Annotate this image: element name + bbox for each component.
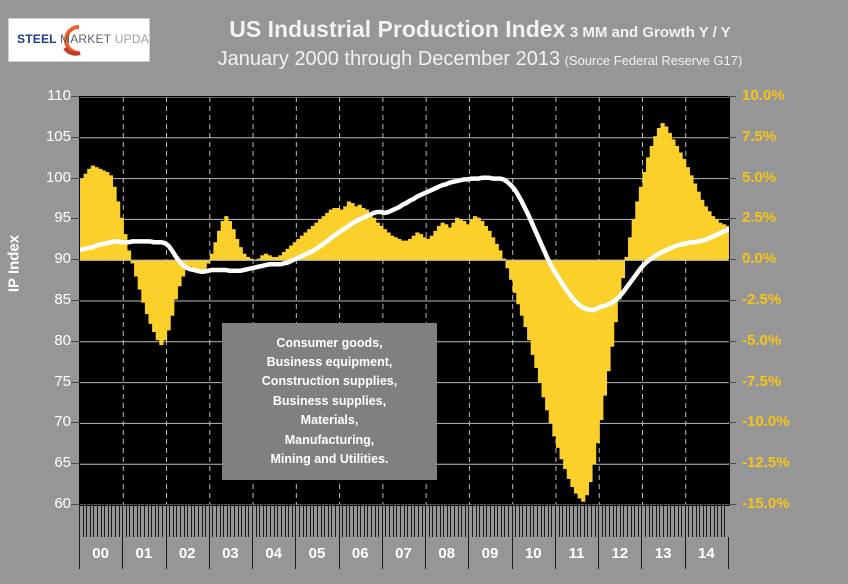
x-axis-month-tick	[649, 504, 650, 537]
bar	[534, 260, 538, 368]
x-axis-month-tick	[133, 504, 134, 537]
x-axis-month-tick	[638, 504, 639, 537]
bar	[405, 241, 409, 261]
x-axis-month-tick	[162, 504, 163, 537]
bar	[516, 260, 520, 304]
x-axis-month-tick	[227, 504, 228, 537]
bar	[340, 210, 344, 261]
bar	[697, 192, 701, 261]
y-axis-right-tick-label: -10.0%	[742, 414, 812, 429]
x-axis-month-tick	[681, 504, 682, 537]
x-axis-month-tick	[245, 504, 246, 537]
bar	[448, 228, 452, 261]
bar	[343, 206, 347, 260]
bar	[462, 221, 466, 260]
y-axis-right-tick-mark	[728, 422, 736, 423]
bar	[668, 133, 672, 260]
x-axis-month-tick	[486, 504, 487, 537]
bar	[170, 260, 174, 315]
y-axis-left-tick-label: 95	[31, 210, 71, 225]
x-axis-month-tick	[522, 504, 523, 537]
x-axis-month-tick	[674, 504, 675, 537]
x-axis-month-tick	[497, 504, 498, 537]
x-axis-month-tick	[580, 504, 581, 537]
x-axis-month-tick	[353, 504, 354, 537]
bar	[455, 218, 459, 260]
x-axis-month-tick	[443, 504, 444, 537]
bar	[379, 226, 383, 260]
x-axis-month-tick	[602, 504, 603, 537]
bar	[102, 170, 106, 260]
bar	[120, 218, 124, 260]
x-axis-year-separator	[728, 537, 729, 569]
bar	[693, 183, 697, 260]
x-axis-month-tick	[375, 504, 376, 537]
x-axis-month-tick	[97, 504, 98, 537]
bar	[469, 219, 473, 260]
y-axis-left-tick-mark	[71, 300, 79, 301]
x-axis-year-label: 10	[512, 546, 555, 561]
x-axis-month-tick	[432, 504, 433, 537]
bar	[322, 216, 326, 260]
bar	[213, 242, 217, 260]
bar	[412, 236, 416, 260]
bar	[426, 239, 430, 260]
bar	[689, 175, 693, 260]
x-axis-month-tick	[479, 504, 480, 537]
x-axis-month-tick	[328, 504, 329, 537]
x-axis-month-tick	[151, 504, 152, 537]
x-axis-month-tick	[508, 504, 509, 537]
x-axis-year-label: 03	[209, 546, 252, 561]
x-axis-month-tick	[104, 504, 105, 537]
y-axis-right-tick-label: 5.0%	[742, 170, 812, 185]
bar	[642, 172, 646, 260]
bar	[520, 260, 524, 315]
bar	[491, 237, 495, 260]
annotation-box: Consumer goods,Business equipment,Constr…	[222, 323, 437, 480]
x-axis-month-tick	[202, 504, 203, 537]
x-axis-month-tick	[266, 504, 267, 537]
x-axis-month-tick	[476, 504, 477, 537]
x-axis-month-tick	[248, 504, 249, 537]
x-axis-year-label: 02	[166, 546, 209, 561]
y-axis-right-tick-label: -7.5%	[742, 374, 812, 389]
x-axis-month-tick	[468, 504, 469, 537]
x-axis-month-tick	[706, 504, 707, 537]
x-axis-month-tick	[349, 504, 350, 537]
x-axis-month-tick	[252, 504, 253, 537]
x-axis-month-tick	[129, 504, 130, 537]
x-axis-month-tick	[526, 504, 527, 537]
bar	[646, 157, 650, 260]
x-axis-month-tick	[483, 504, 484, 537]
x-axis-month-tick	[137, 504, 138, 537]
y-axis-left-tick-mark	[71, 504, 79, 505]
y-axis-right-tick-label: -15.0%	[742, 496, 812, 511]
bar	[523, 260, 527, 327]
bar	[350, 203, 354, 260]
x-axis-month-tick	[688, 504, 689, 537]
bar	[267, 255, 271, 260]
x-axis-month-tick	[461, 504, 462, 537]
x-axis-month-tick	[584, 504, 585, 537]
logo-word-update: UPDATE	[115, 32, 150, 46]
x-axis-month-tick	[573, 504, 574, 537]
bar	[235, 239, 239, 260]
y-axis-left-tick-label: 60	[31, 496, 71, 511]
x-axis-month-tick	[641, 504, 642, 537]
x-axis-month-tick	[378, 504, 379, 537]
y-axis-right-tick-label: 7.5%	[742, 129, 812, 144]
x-axis-month-tick	[458, 504, 459, 537]
x-axis-month-tick	[587, 504, 588, 537]
x-axis-month-tick	[86, 504, 87, 537]
x-axis-month-tick	[212, 504, 213, 537]
x-axis-month-tick	[367, 504, 368, 537]
x-axis-year-label: 00	[79, 546, 122, 561]
x-axis-month-tick	[422, 504, 423, 537]
bar	[487, 231, 491, 260]
x-axis-month-tick	[609, 504, 610, 537]
x-axis-month-tick	[623, 504, 624, 537]
x-axis-month-tick	[685, 504, 686, 537]
bar	[477, 218, 481, 260]
bar	[210, 254, 214, 261]
x-axis-month-tick	[83, 504, 84, 537]
y-axis-right-tick-mark	[728, 259, 736, 260]
y-axis-left-tick-label: 70	[31, 414, 71, 429]
x-axis-month-tick	[194, 504, 195, 537]
x-axis-month-tick	[306, 504, 307, 537]
x-axis-month-tick	[216, 504, 217, 537]
x-axis-month-tick	[140, 504, 141, 537]
x-axis-month-tick	[411, 504, 412, 537]
bar	[549, 260, 553, 423]
x-axis-month-tick	[404, 504, 405, 537]
y-axis-left-title: IP Index	[6, 224, 23, 304]
y-axis-left-tick-mark	[71, 341, 79, 342]
x-axis-month-tick	[717, 504, 718, 537]
y-axis-left-tick-mark	[71, 463, 79, 464]
x-axis-month-tick	[703, 504, 704, 537]
steel-market-update-logo: STEEL MARKET UPDATE	[8, 18, 150, 62]
x-axis-month-tick	[205, 504, 206, 537]
bar	[686, 167, 690, 260]
y-axis-right-tick-mark	[728, 463, 736, 464]
x-axis-month-tick	[126, 504, 127, 537]
bar	[372, 218, 376, 260]
y-axis-right-tick-label: 10.0%	[742, 88, 812, 103]
bar	[578, 260, 582, 498]
bar	[484, 226, 488, 260]
x-axis-month-tick	[551, 504, 552, 537]
x-axis-month-tick	[101, 504, 102, 537]
bar	[141, 260, 145, 302]
x-axis-month-tick	[277, 504, 278, 537]
bar	[109, 175, 113, 260]
bar	[239, 247, 243, 260]
x-axis-month-tick	[454, 504, 455, 537]
bar	[390, 236, 394, 260]
bar	[545, 260, 549, 410]
bar	[134, 260, 138, 276]
y-axis-right-tick-mark	[728, 504, 736, 505]
x-axis-month-tick	[270, 504, 271, 537]
x-axis-month-tick	[238, 504, 239, 537]
y-axis-left-tick-label: 75	[31, 374, 71, 389]
x-axis-month-tick	[169, 504, 170, 537]
bar	[660, 123, 664, 260]
y-axis-left-tick-label: 90	[31, 251, 71, 266]
x-axis-month-tick	[364, 504, 365, 537]
x-axis-month-tick	[627, 504, 628, 537]
bar	[606, 260, 610, 371]
bar	[495, 244, 499, 260]
y-axis-right-tick-mark	[728, 300, 736, 301]
bar	[498, 250, 502, 260]
x-axis-month-tick	[393, 504, 394, 537]
x-axis-month-tick	[230, 504, 231, 537]
annotation-line: Mining and Utilities.	[270, 450, 388, 469]
x-axis-month-tick	[670, 504, 671, 537]
bar	[260, 255, 264, 260]
x-axis-year-label: 01	[122, 546, 165, 561]
annotation-line: Business supplies,	[273, 392, 386, 411]
x-axis-year-label: 11	[555, 546, 598, 561]
bar	[574, 260, 578, 493]
x-axis-month-tick	[714, 504, 715, 537]
chart-subtitle-source: (Source Federal Reserve G17)	[565, 53, 743, 68]
x-axis-month-tick	[234, 504, 235, 537]
x-axis-month-tick	[652, 504, 653, 537]
x-axis-month-tick	[158, 504, 159, 537]
bar	[700, 200, 704, 260]
x-axis-month-tick	[299, 504, 300, 537]
bar	[286, 249, 290, 260]
y-axis-right-tick-mark	[728, 96, 736, 97]
x-axis-month-tick	[721, 504, 722, 537]
x-axis-month-tick	[360, 504, 361, 537]
x-axis-month-tick	[310, 504, 311, 537]
bar	[376, 223, 380, 261]
bar	[278, 255, 282, 260]
bar	[282, 252, 286, 260]
x-axis-year-label: 08	[425, 546, 468, 561]
annotation-line: Materials,	[301, 411, 359, 430]
chart-subtitle-range: January 2000 through December 2013	[218, 48, 560, 70]
bar	[152, 260, 156, 332]
bar	[513, 260, 517, 293]
x-axis-month-tick	[490, 504, 491, 537]
annotation-line: Business equipment,	[267, 353, 393, 372]
bar	[466, 224, 470, 260]
x-axis-month-tick	[342, 504, 343, 537]
bar	[386, 232, 390, 260]
bar	[127, 250, 131, 260]
x-axis-month-tick	[447, 504, 448, 537]
x-axis-month-tick	[389, 504, 390, 537]
x-axis-month-tick	[144, 504, 145, 537]
x-axis-month-tick	[155, 504, 156, 537]
x-axis-month-tick	[414, 504, 415, 537]
annotation-line: Manufacturing,	[285, 431, 375, 450]
x-axis-month-tick	[166, 504, 167, 537]
bar	[531, 260, 535, 355]
x-axis-month-tick	[616, 504, 617, 537]
x-axis-month-tick	[187, 504, 188, 537]
x-axis-month-tick	[357, 504, 358, 537]
bar	[318, 219, 322, 260]
x-axis-month-tick	[274, 504, 275, 537]
x-axis-month-tick	[667, 504, 668, 537]
x-axis-month-tick	[303, 504, 304, 537]
bar	[145, 260, 149, 314]
x-axis-month-tick	[548, 504, 549, 537]
bar	[419, 234, 423, 260]
bar	[473, 216, 477, 260]
y-axis-left-tick-mark	[71, 137, 79, 138]
x-axis-month-tick	[313, 504, 314, 537]
x-axis-month-tick	[519, 504, 520, 537]
x-axis-month-tick	[544, 504, 545, 537]
y-axis-right-tick-mark	[728, 137, 736, 138]
x-axis-month-tick	[656, 504, 657, 537]
x-axis-month-tick	[541, 504, 542, 537]
x-axis-month-tick	[533, 504, 534, 537]
bar	[159, 260, 163, 345]
bar	[552, 260, 556, 436]
bar	[621, 260, 625, 278]
bar	[105, 172, 109, 260]
bar	[596, 260, 600, 443]
x-axis-month-tick	[79, 504, 80, 537]
y-axis-left-tick-mark	[71, 382, 79, 383]
x-axis-month-tick	[115, 504, 116, 537]
bar	[397, 239, 401, 260]
bar	[242, 254, 246, 261]
y-axis-left-tick-label: 85	[31, 292, 71, 307]
x-axis-year-label: 06	[339, 546, 382, 561]
bar	[156, 260, 160, 340]
y-axis-right-tick-mark	[728, 382, 736, 383]
x-axis-month-tick	[591, 504, 592, 537]
bar	[560, 260, 564, 459]
chart-title-primary: US Industrial Production Index	[229, 16, 565, 42]
bar	[538, 260, 542, 382]
bar	[203, 260, 207, 270]
x-axis-month-tick	[339, 504, 340, 537]
x-axis-month-tick	[425, 504, 426, 537]
x-axis-year-label: 09	[468, 546, 511, 561]
bar	[433, 231, 437, 260]
bar	[671, 139, 675, 260]
x-axis-month-tick	[605, 504, 606, 537]
x-axis-month-tick	[692, 504, 693, 537]
y-axis-right-tick-label: 2.5%	[742, 210, 812, 225]
y-axis-left-tick-label: 105	[31, 129, 71, 144]
x-axis-month-tick	[111, 504, 112, 537]
x-axis-month-tick	[122, 504, 123, 537]
logo-word-market: MARKET	[60, 32, 111, 46]
bar	[664, 126, 668, 260]
x-axis-month-tick	[537, 504, 538, 537]
bar	[556, 260, 560, 448]
x-axis-month-tick	[396, 504, 397, 537]
x-axis-month-tick	[184, 504, 185, 537]
bar	[542, 260, 546, 397]
x-axis-month-tick	[429, 504, 430, 537]
x-axis-month-tick	[659, 504, 660, 537]
x-axis-month-tick	[631, 504, 632, 537]
chart-title: US Industrial Production Index 3 MM and …	[150, 16, 810, 43]
x-axis-year-label: 07	[382, 546, 425, 561]
x-axis-month-tick	[512, 504, 513, 537]
bar	[354, 206, 358, 260]
x-axis-month-tick	[440, 504, 441, 537]
bar	[116, 201, 120, 260]
x-axis-month-tick	[710, 504, 711, 537]
bar	[224, 216, 228, 260]
bar	[423, 237, 427, 260]
x-axis-month-tick	[436, 504, 437, 537]
bar	[217, 231, 221, 260]
bar	[592, 260, 596, 464]
bar	[394, 237, 398, 260]
bar	[383, 229, 387, 260]
x-axis-month-tick	[620, 504, 621, 537]
x-axis-month-tick	[317, 504, 318, 537]
bar	[650, 146, 654, 260]
x-axis-month-tick	[180, 504, 181, 537]
bar	[653, 136, 657, 260]
bar	[188, 260, 192, 267]
x-axis-month-tick	[724, 504, 725, 537]
x-axis-month-tick	[191, 504, 192, 537]
x-axis-month-tick	[173, 504, 174, 537]
logo-wordmark: STEEL MARKET UPDATE	[17, 32, 150, 46]
x-axis-month-tick	[324, 504, 325, 537]
y-axis-left-tick-mark	[71, 422, 79, 423]
x-axis-month-tick	[288, 504, 289, 537]
y-axis-right-tick-label: -2.5%	[742, 292, 812, 307]
bar	[347, 201, 351, 260]
logo-word-steel: STEEL	[17, 32, 56, 46]
x-axis-month-tick	[295, 504, 296, 537]
x-axis-month-tick	[577, 504, 578, 537]
y-axis-right-tick-label: -12.5%	[742, 455, 812, 470]
x-axis-month-tick	[93, 504, 94, 537]
bar	[603, 260, 607, 395]
x-axis-year-label: 14	[685, 546, 728, 561]
x-axis-month-tick	[256, 504, 257, 537]
bar	[167, 260, 171, 330]
x-axis-month-tick	[663, 504, 664, 537]
y-axis-left-tick-label: 80	[31, 333, 71, 348]
bar	[437, 226, 441, 260]
x-axis-month-tick	[371, 504, 372, 537]
x-axis-month-tick	[645, 504, 646, 537]
bar	[614, 260, 618, 322]
x-axis-month-tick	[176, 504, 177, 537]
x-axis-month-tick	[285, 504, 286, 537]
x-axis-month-tick	[569, 504, 570, 537]
x-axis-month-tick	[331, 504, 332, 537]
x-axis-month-tick	[90, 504, 91, 537]
annotation-line: Construction supplies,	[262, 372, 397, 391]
x-axis-month-tick	[501, 504, 502, 537]
bar	[441, 223, 445, 261]
